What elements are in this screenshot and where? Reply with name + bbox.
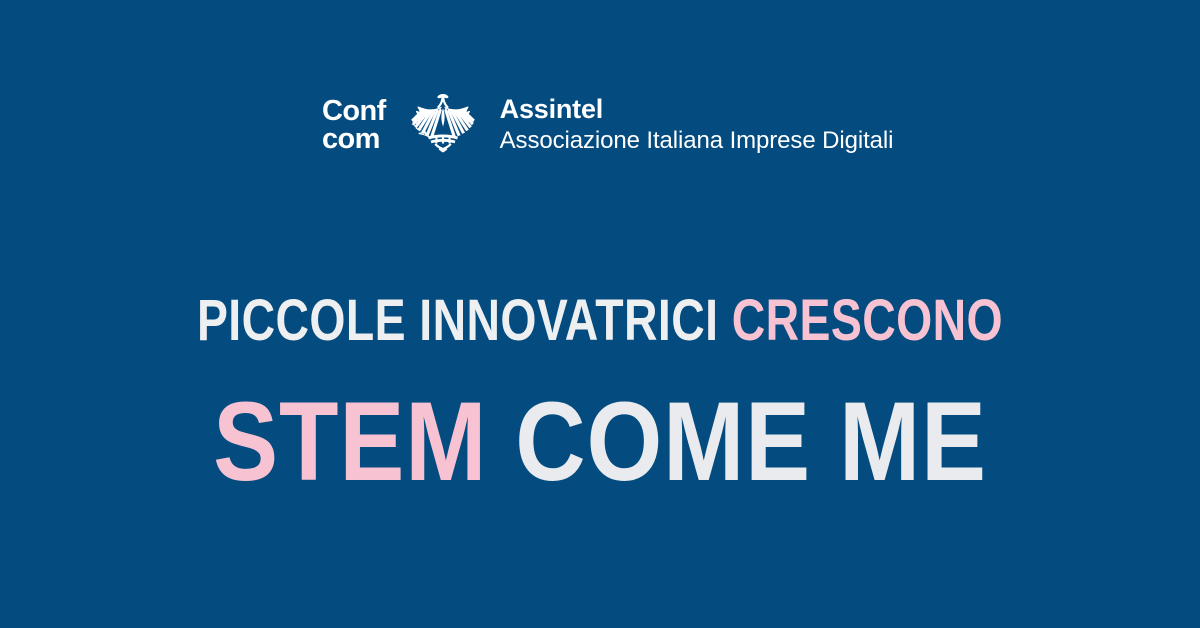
brand-logo-lockup[interactable]: Conf com xyxy=(322,92,893,158)
kicker-segment-light: PICCOLE INNOVATRICI xyxy=(197,288,718,353)
kicker-segment-pink: CRESCONO xyxy=(732,288,1003,353)
assintel-name: Assintel xyxy=(500,94,894,124)
title-segment-light: COME ME xyxy=(515,379,987,504)
kicker-line: PICCOLE INNOVATRICI CRESCONO xyxy=(120,292,1080,350)
confcom-line-2: com xyxy=(322,125,386,154)
confcom-line-1: Conf xyxy=(322,97,386,126)
assintel-wordmark: Assintel Associazione Italiana Imprese D… xyxy=(478,94,894,155)
title-segment-pink: STEM xyxy=(213,379,487,504)
headline-zone: PICCOLE INNOVATRICI CRESCONO STEM COME M… xyxy=(0,292,1200,498)
confcommercio-wordmark: Conf com xyxy=(322,97,408,154)
main-title-line: STEM COME ME xyxy=(78,386,1122,498)
eagle-icon xyxy=(408,92,478,158)
poster-canvas: Conf com xyxy=(0,0,1200,628)
assintel-tagline: Associazione Italiana Imprese Digitali xyxy=(500,127,894,156)
